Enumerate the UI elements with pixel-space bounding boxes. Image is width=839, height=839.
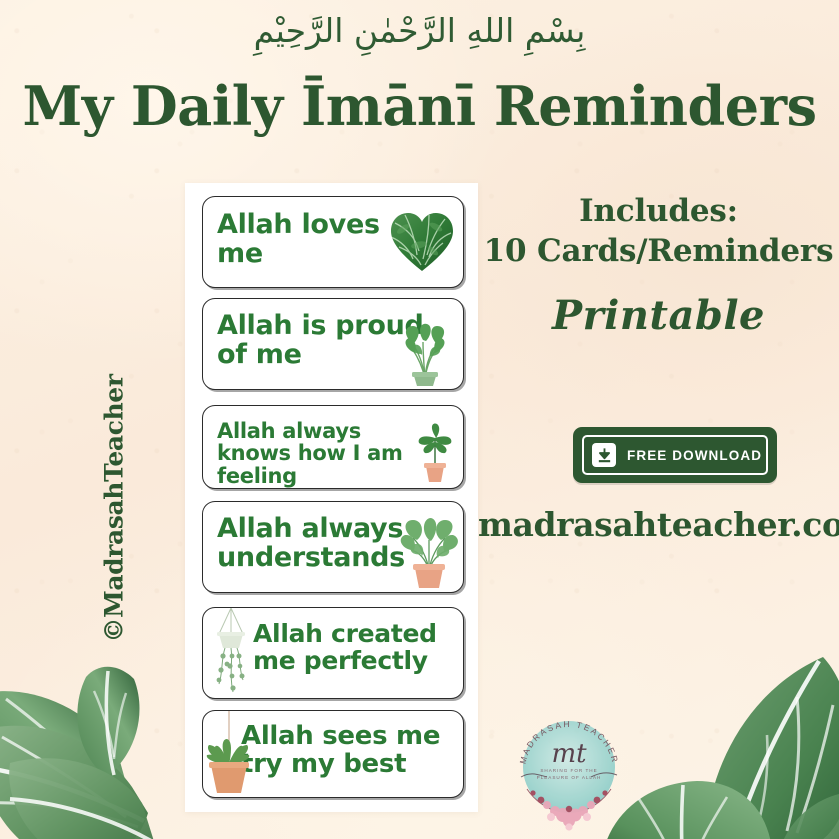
reminder-card-text: Allah is proud of me <box>217 312 427 369</box>
free-download-button-inner: FREE DOWNLOAD <box>582 435 768 475</box>
logo-tagline-line2: PLEASURE OF ALLAH <box>505 774 633 781</box>
copyright-text: ©MadrasahTeacher <box>100 383 129 643</box>
reminder-card[interactable]: Allah always knows how I am feeling <box>202 405 464 489</box>
download-arrow-icon <box>592 443 616 467</box>
printable-label: Printable <box>478 292 839 339</box>
reminder-card[interactable]: Allah loves me <box>202 196 464 288</box>
reminder-card[interactable]: Allah always understands <box>202 501 464 593</box>
reminder-card[interactable]: Allah created me perfectly <box>202 607 464 699</box>
logo-monogram: mt <box>505 739 633 769</box>
includes-value: 10 Cards/Reminders <box>478 232 839 272</box>
hanging-trailing-plant-icon <box>207 608 255 698</box>
bismillah-calligraphy: بِسْمِ اللهِ الرَّحْمٰنِ الرَّحِيْمِ <box>0 14 839 47</box>
cards-panel: Allah loves me <box>185 183 478 812</box>
free-download-label: FREE DOWNLOAD <box>627 448 762 463</box>
reminder-card-text: Allah always understands <box>217 515 422 572</box>
reminder-card-text: Allah sees me try my best <box>241 723 459 778</box>
page-title: My Daily Īmānī Reminders <box>0 78 839 135</box>
logo-tagline: SHARING FOR THE PLEASURE OF ALLAH <box>505 767 633 782</box>
reminder-card-text: Allah loves me <box>217 211 407 268</box>
poster-canvas: بِسْمِ اللهِ الرَّحْمٰنِ الرَّحِيْمِ My … <box>0 0 839 839</box>
website-url: madrasahteacher.com <box>478 505 839 544</box>
reminder-card-text: Allah created me perfectly <box>253 621 458 674</box>
reminder-card[interactable]: Allah sees me try my best <box>202 710 464 798</box>
includes-label: Includes: <box>478 192 839 232</box>
reminder-card[interactable]: Allah is proud of me <box>202 298 464 390</box>
reminder-card-text: Allah always knows how I am feeling <box>217 420 437 487</box>
logo-tagline-line1: SHARING FOR THE <box>505 767 633 774</box>
brand-logo-watermark: MADRASAH TEACHER <box>505 705 633 833</box>
free-download-button[interactable]: FREE DOWNLOAD <box>573 427 777 483</box>
includes-block: Includes: 10 Cards/Reminders <box>478 192 839 271</box>
